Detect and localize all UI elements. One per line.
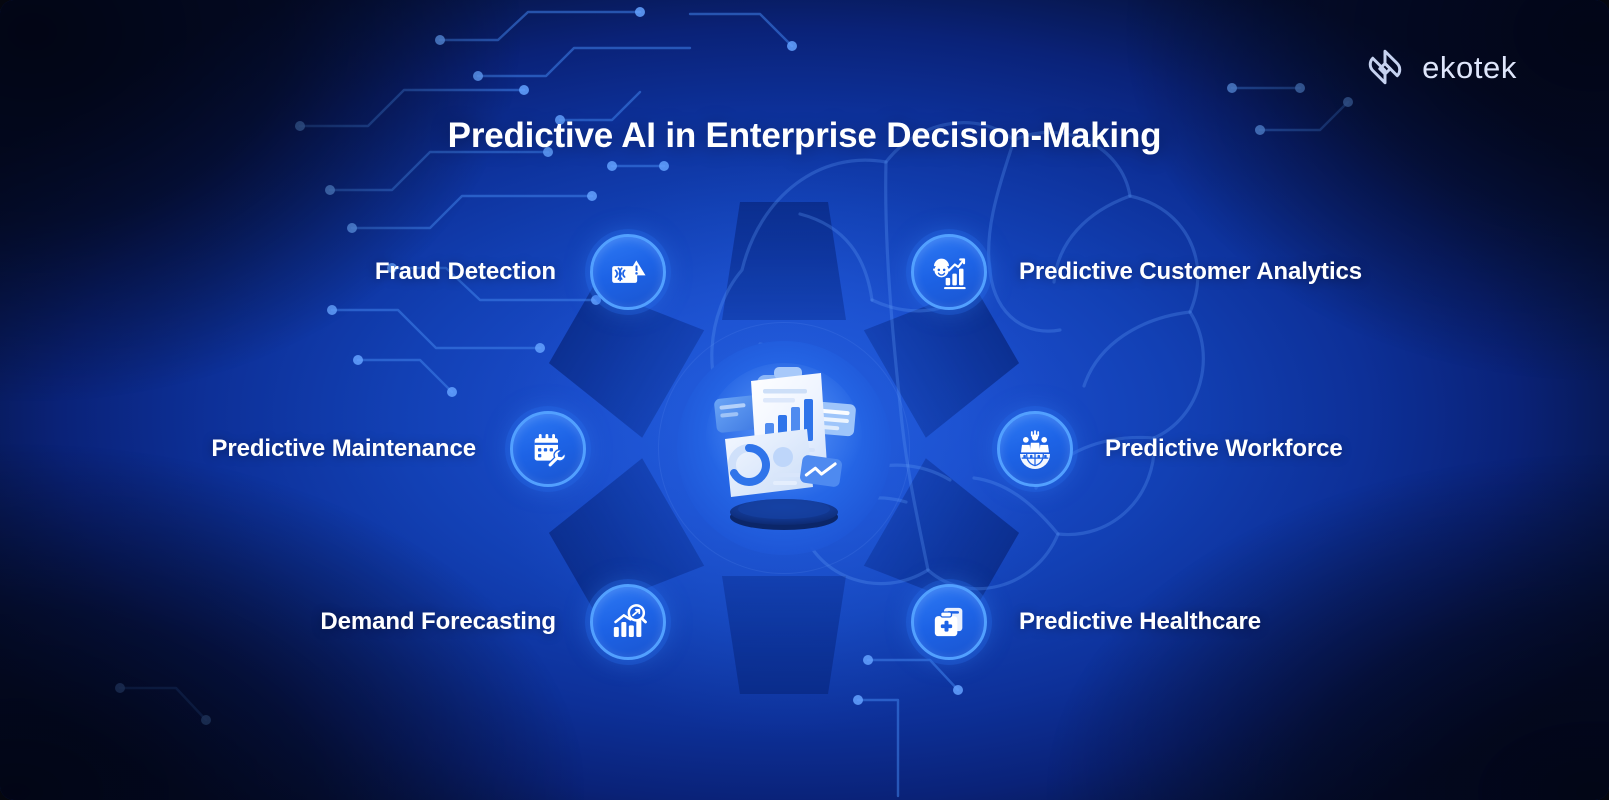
node-bubble-predictive-workforce[interactable]: [997, 411, 1073, 487]
calendar-wrench-icon: [528, 429, 568, 469]
node-demand-forecasting[interactable]: Demand Forecasting: [0, 584, 666, 660]
infographic-canvas: ekotek Predictive AI in Enterprise Decis…: [0, 0, 1609, 800]
node-predictive-customer-analytics[interactable]: Predictive Customer Analytics: [911, 234, 1362, 310]
signal-alert-icon: [608, 252, 648, 292]
ekotek-logo-icon: [1364, 46, 1406, 88]
node-label-demand-forecasting: Demand Forecasting: [320, 608, 556, 636]
node-label-predictive-maintenance: Predictive Maintenance: [211, 435, 476, 463]
medical-kit-icon: [929, 602, 969, 642]
brand-logo[interactable]: ekotek: [1364, 46, 1517, 88]
node-label-predictive-healthcare: Predictive Healthcare: [1019, 608, 1261, 636]
node-bubble-predictive-maintenance[interactable]: [510, 411, 586, 487]
node-bubble-predictive-healthcare[interactable]: [911, 584, 987, 660]
node-bubble-predictive-customer-analytics[interactable]: [911, 234, 987, 310]
global-workforce-icon: [1015, 429, 1055, 469]
node-fraud-detection[interactable]: Fraud Detection: [0, 234, 666, 310]
node-bubble-demand-forecasting[interactable]: [590, 584, 666, 660]
node-predictive-maintenance[interactable]: Predictive Maintenance: [0, 411, 586, 487]
chart-search-icon: [608, 602, 648, 642]
node-label-fraud-detection: Fraud Detection: [375, 258, 556, 286]
node-predictive-workforce[interactable]: Predictive Workforce: [997, 411, 1343, 487]
node-predictive-healthcare[interactable]: Predictive Healthcare: [911, 584, 1261, 660]
node-label-predictive-workforce: Predictive Workforce: [1105, 435, 1343, 463]
brand-name: ekotek: [1422, 52, 1517, 83]
customer-chart-icon: [929, 252, 969, 292]
page-title: Predictive AI in Enterprise Decision-Mak…: [0, 116, 1609, 156]
node-label-predictive-customer-analytics: Predictive Customer Analytics: [1019, 258, 1362, 286]
node-bubble-fraud-detection[interactable]: [590, 234, 666, 310]
analytics-clipboard-report-illustration: [689, 353, 879, 543]
